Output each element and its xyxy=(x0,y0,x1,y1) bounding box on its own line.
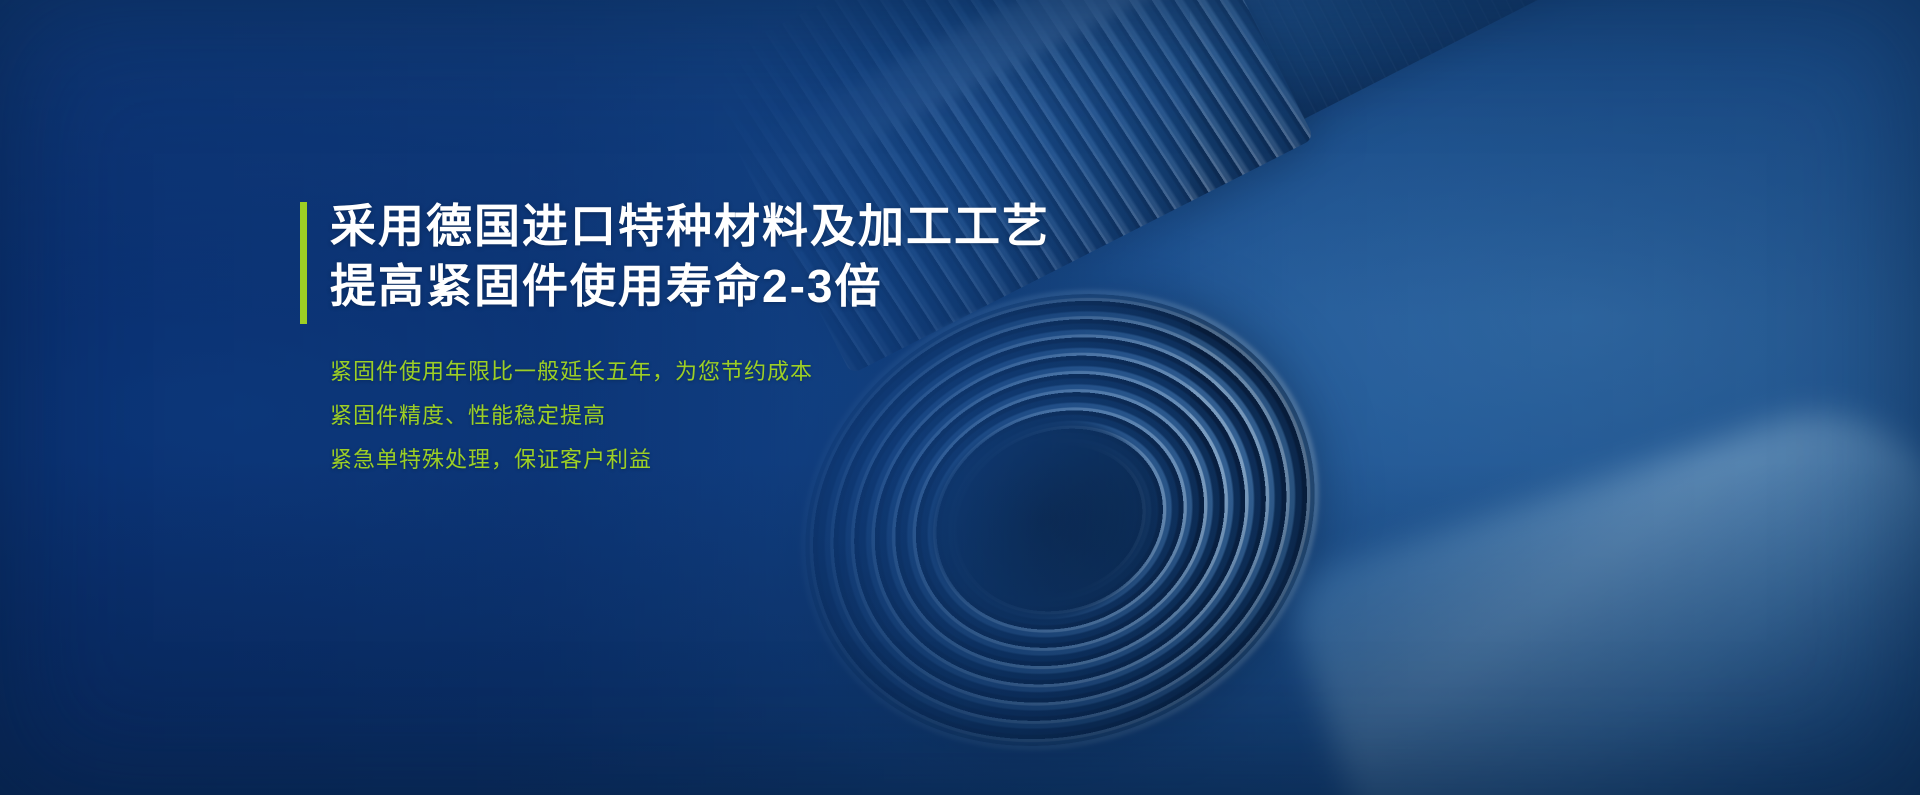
subtitle-item-1: 紧固件使用年限比一般延长五年，为您节约成本 xyxy=(330,350,1060,394)
subtitle-list: 紧固件使用年限比一般延长五年，为您节约成本 紧固件精度、性能稳定提高 紧急单特殊… xyxy=(330,350,1060,482)
headline-line-2: 提高紧固件使用寿命2-3倍 xyxy=(330,256,1060,316)
headline-line-1: 采用德国进口特种材料及加工工艺 xyxy=(330,196,1060,256)
subtitle-item-2: 紧固件精度、性能稳定提高 xyxy=(330,394,1060,438)
headline-group: 采用德国进口特种材料及加工工艺 提高紧固件使用寿命2-3倍 xyxy=(300,196,1060,316)
banner-copy: 采用德国进口特种材料及加工工艺 提高紧固件使用寿命2-3倍 紧固件使用年限比一般… xyxy=(300,196,1060,482)
subtitle-item-3: 紧急单特殊处理，保证客户利益 xyxy=(330,438,1060,482)
accent-bar xyxy=(300,202,307,324)
hero-banner: 采用德国进口特种材料及加工工艺 提高紧固件使用寿命2-3倍 紧固件使用年限比一般… xyxy=(0,0,1920,795)
